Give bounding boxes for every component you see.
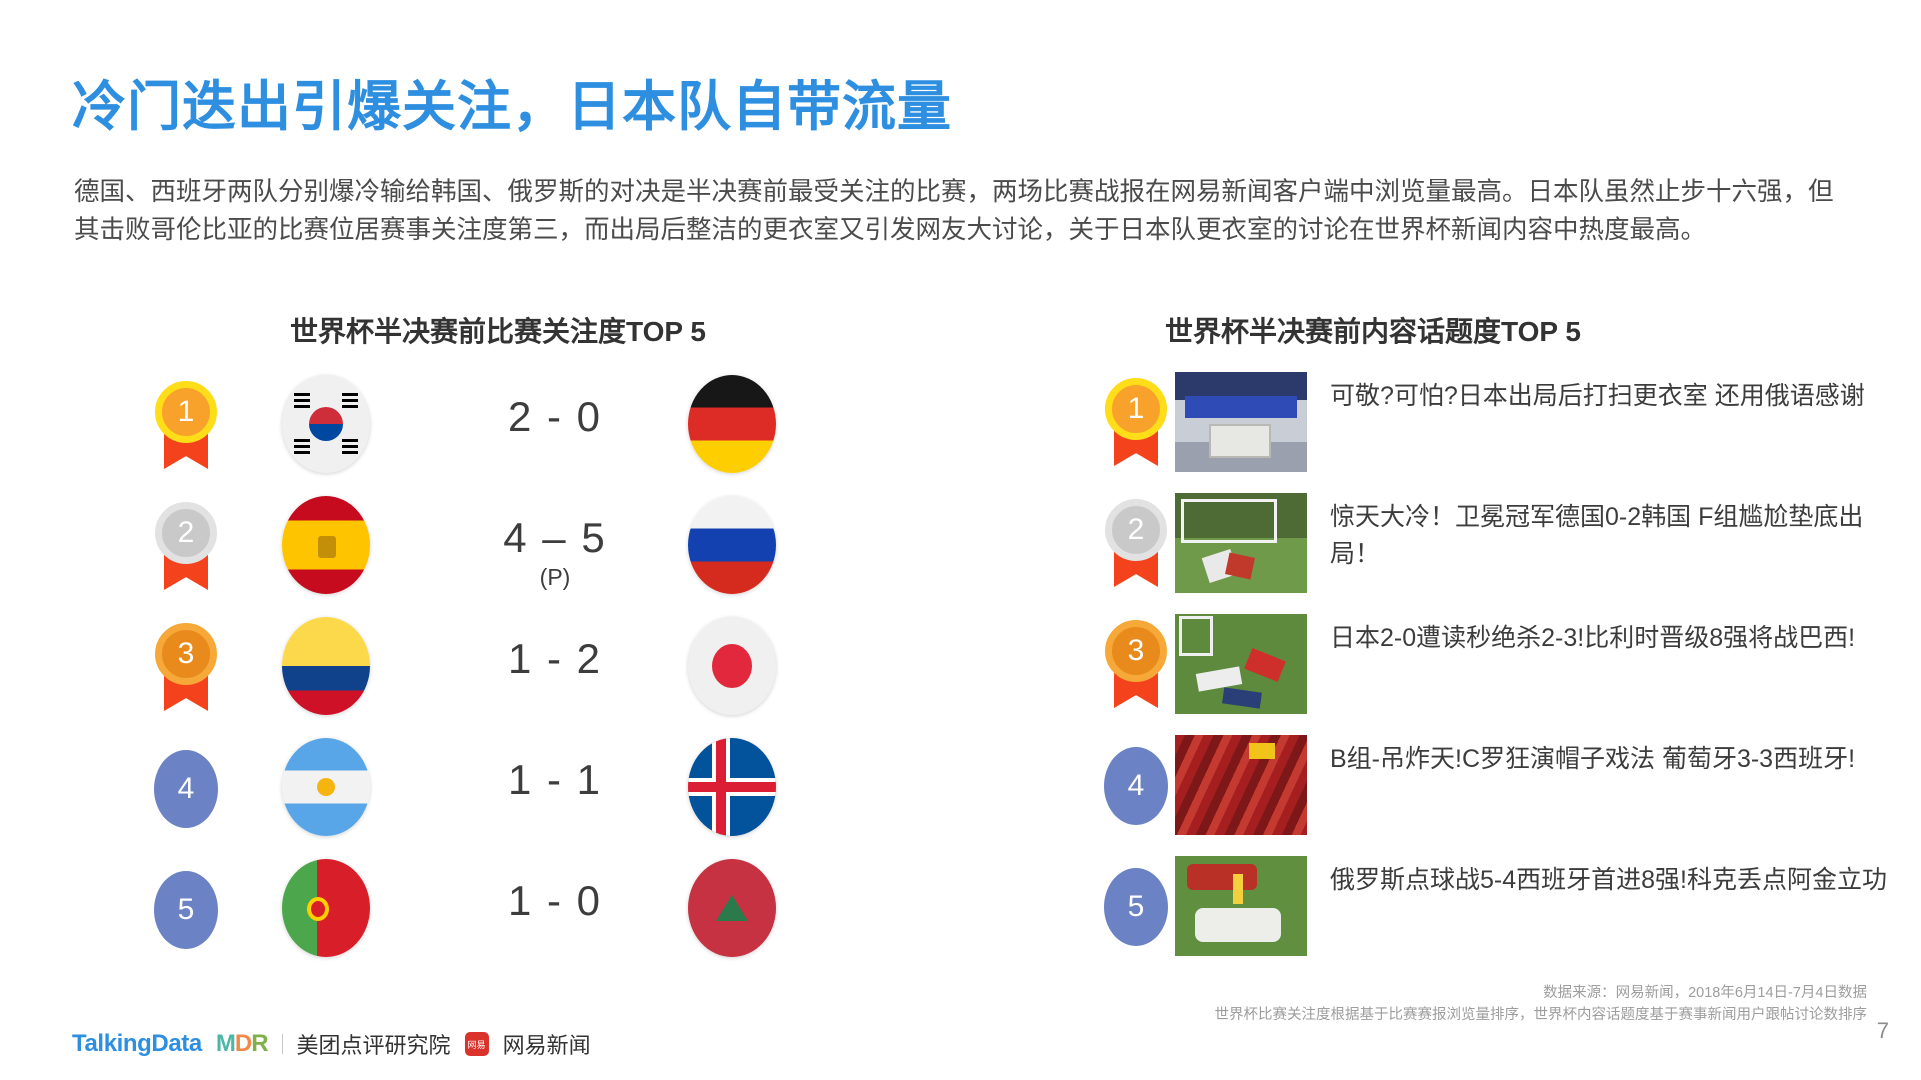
netease-news-logo: 网易新闻 bbox=[503, 1028, 591, 1060]
news-headline: 可敬?可怕?日本出局后打扫更衣室 还用俄语感谢 bbox=[1330, 378, 1890, 415]
table-row[interactable]: 5 1 - 0 bbox=[120, 859, 920, 959]
japan-flag-icon bbox=[688, 617, 776, 715]
rank-badge-2: 2 bbox=[1090, 497, 1182, 589]
russia-flag-icon bbox=[688, 496, 776, 594]
match-attention-list: 1 2 - 0 2 bbox=[120, 375, 920, 980]
match-score: 4 – 5 (P) bbox=[460, 514, 650, 591]
colombia-flag-icon bbox=[282, 617, 370, 715]
table-row[interactable]: 4 1 - 1 bbox=[120, 738, 920, 838]
slide-root: 冷门迭出引爆关注，日本队自带流量 德国、西班牙两队分别爆冷输给韩国、俄罗斯的对决… bbox=[0, 0, 1921, 1080]
rank-badge-5: 5 bbox=[140, 863, 232, 955]
gold-medal-icon: 1 bbox=[140, 379, 232, 471]
rank-number: 3 bbox=[155, 623, 217, 685]
rank-badge-2: 2 bbox=[140, 500, 232, 592]
news-headline: B组-吊炸天!C罗狂演帽子戏法 葡萄牙3-3西班牙! bbox=[1330, 741, 1890, 778]
talkingdata-logo: TalkingData bbox=[72, 1030, 202, 1058]
rank-badge-3: 3 bbox=[140, 621, 232, 713]
news-headline: 俄罗斯点球战5-4西班牙首进8强!科克丢点阿金立功 bbox=[1330, 862, 1890, 899]
table-row[interactable]: 1 2 - 0 bbox=[120, 375, 920, 475]
table-row[interactable]: 2 4 – 5 (P) bbox=[120, 496, 920, 596]
iceland-flag-icon bbox=[688, 738, 776, 836]
players-down-photo bbox=[1175, 614, 1307, 714]
rank-badge-4: 4 bbox=[1090, 739, 1182, 831]
morocco-flag-icon bbox=[688, 859, 776, 957]
celebration-photo bbox=[1175, 856, 1307, 956]
source-line-1: 数据来源：网易新闻，2018年6月14日-7月4日数据 bbox=[807, 982, 1867, 1004]
source-line-2: 世界杯比赛关注度根据基于比赛赛报浏览量排序，世界杯内容话题度基于赛事新闻用户跟帖… bbox=[807, 1004, 1867, 1026]
netease-mark-icon: 网易 bbox=[465, 1032, 489, 1056]
source-note: 数据来源：网易新闻，2018年6月14日-7月4日数据 世界杯比赛关注度根据基于… bbox=[807, 982, 1867, 1026]
list-item[interactable]: 4 B组-吊炸天!C罗狂演帽子戏法 葡萄牙3-3西班牙! bbox=[1090, 735, 1890, 835]
mdr-logo: MDR bbox=[216, 1030, 268, 1058]
meituan-logo: 美团点评研究院 bbox=[297, 1028, 451, 1060]
rank-badge-1: 1 bbox=[140, 379, 232, 471]
rank-badge-3: 3 bbox=[1090, 618, 1182, 710]
match-score: 2 - 0 bbox=[460, 393, 650, 441]
table-row[interactable]: 3 1 - 2 bbox=[120, 617, 920, 717]
score-value: 2 - 0 bbox=[508, 393, 602, 440]
list-item[interactable]: 3 日本2-0遭读秒绝杀2-3!比利时晋级8强将战巴西! bbox=[1090, 614, 1890, 714]
plain-rank-icon: 4 bbox=[154, 750, 218, 828]
right-section-title: 世界杯半决赛前内容话题度TOP 5 bbox=[1165, 310, 1581, 350]
bronze-medal-icon: 3 bbox=[140, 621, 232, 713]
list-item[interactable]: 5 俄罗斯点球战5-4西班牙首进8强!科克丢点阿金立功 bbox=[1090, 856, 1890, 956]
germany-flag-icon bbox=[688, 375, 776, 473]
plain-rank-icon: 5 bbox=[1104, 868, 1168, 946]
rank-badge-5: 5 bbox=[1090, 860, 1182, 952]
argentina-flag-icon bbox=[282, 738, 370, 836]
gold-medal-icon: 1 bbox=[1090, 376, 1182, 468]
silver-medal-icon: 2 bbox=[140, 500, 232, 592]
rank-number: 3 bbox=[1105, 620, 1167, 682]
score-value: 4 – 5 bbox=[503, 514, 606, 561]
logo-divider bbox=[282, 1034, 283, 1054]
rank-number: 1 bbox=[1105, 378, 1167, 440]
rank-badge-4: 4 bbox=[140, 742, 232, 834]
rank-number: 2 bbox=[155, 502, 217, 564]
score-value: 1 - 1 bbox=[508, 756, 602, 803]
content-topic-list: 1 可敬?可怕?日本出局后打扫更衣室 还用俄语感谢 2 惊天大冷！卫冕 bbox=[1090, 372, 1890, 977]
goal-save-photo bbox=[1175, 493, 1307, 593]
match-score: 1 - 0 bbox=[460, 877, 650, 925]
lede-paragraph: 德国、西班牙两队分别爆冷输给韩国、俄罗斯的对决是半决赛前最受关注的比赛，两场比赛… bbox=[74, 173, 1854, 249]
match-score: 1 - 2 bbox=[460, 635, 650, 683]
portugal-flag-icon bbox=[282, 859, 370, 957]
korea-flag-icon bbox=[282, 375, 370, 473]
logo-bar: TalkingData MDR 美团点评研究院 网易 网易新闻 bbox=[72, 1028, 591, 1060]
news-headline: 惊天大冷！卫冕冠军德国0-2韩国 F组尴尬垫底出局！ bbox=[1330, 499, 1890, 573]
score-value: 1 - 2 bbox=[508, 635, 602, 682]
page-number: 7 bbox=[1877, 1018, 1889, 1044]
list-item[interactable]: 1 可敬?可怕?日本出局后打扫更衣室 还用俄语感谢 bbox=[1090, 372, 1890, 472]
score-value: 1 - 0 bbox=[508, 877, 602, 924]
bronze-medal-icon: 3 bbox=[1090, 618, 1182, 710]
score-note: (P) bbox=[460, 564, 650, 591]
plain-rank-icon: 5 bbox=[154, 871, 218, 949]
rank-badge-1: 1 bbox=[1090, 376, 1182, 468]
plain-rank-icon: 4 bbox=[1104, 747, 1168, 825]
locker-room-photo bbox=[1175, 372, 1307, 472]
page-title: 冷门迭出引爆关注，日本队自带流量 bbox=[72, 62, 952, 141]
rank-number: 2 bbox=[1105, 499, 1167, 561]
spain-flag-icon bbox=[282, 496, 370, 594]
news-headline: 日本2-0遭读秒绝杀2-3!比利时晋级8强将战巴西! bbox=[1330, 620, 1890, 657]
left-section-title: 世界杯半决赛前比赛关注度TOP 5 bbox=[290, 310, 706, 350]
red-crowd-photo bbox=[1175, 735, 1307, 835]
silver-medal-icon: 2 bbox=[1090, 497, 1182, 589]
match-score: 1 - 1 bbox=[460, 756, 650, 804]
rank-number: 1 bbox=[155, 381, 217, 443]
list-item[interactable]: 2 惊天大冷！卫冕冠军德国0-2韩国 F组尴尬垫底出局！ bbox=[1090, 493, 1890, 593]
